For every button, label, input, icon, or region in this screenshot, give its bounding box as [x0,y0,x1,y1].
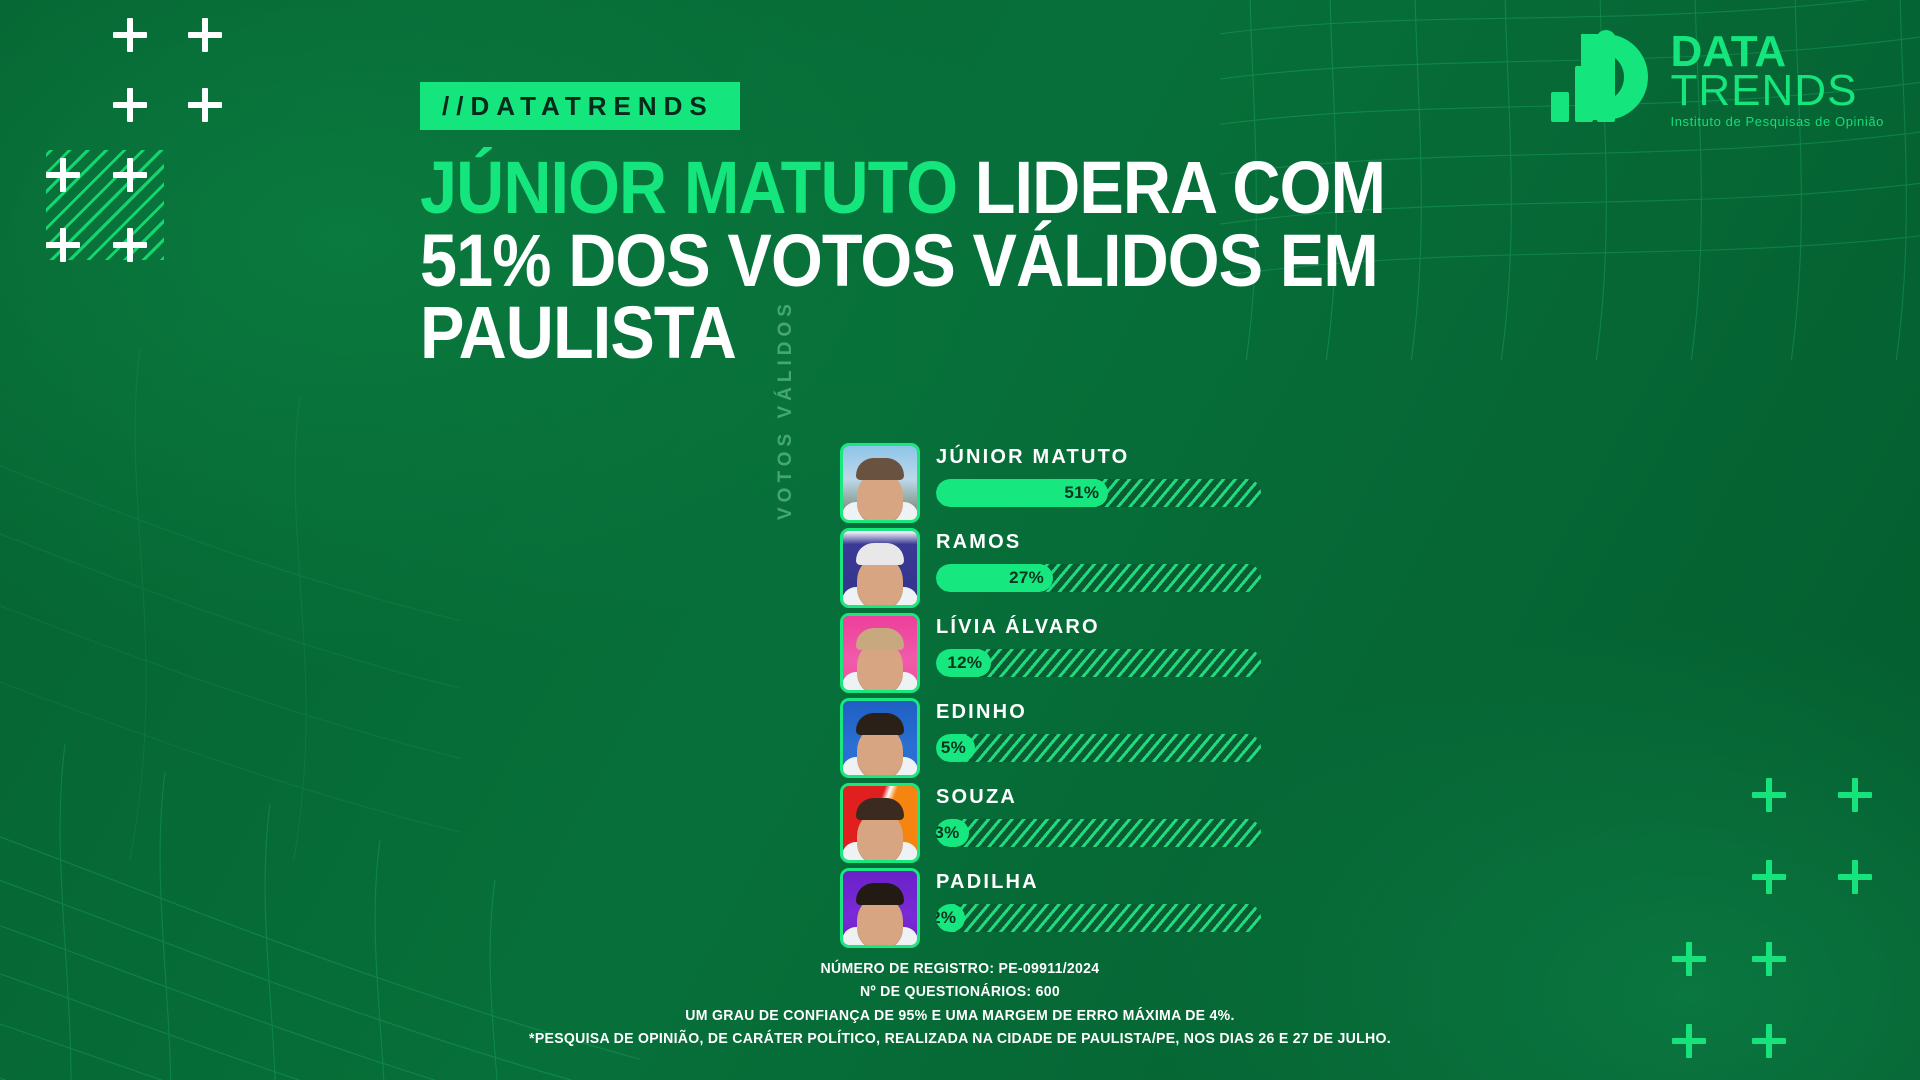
plus-cluster-top-left [0,0,260,300]
result-percentage: 12% [947,653,982,673]
result-bar-fill: 2% [936,904,965,932]
plus-icon [188,88,222,122]
candidate-photo [840,783,920,863]
footer-line-registro: NÚMERO DE REGISTRO: PE-09911/2024 [58,957,1863,980]
footer-disclaimer: NÚMERO DE REGISTRO: PE-09911/2024 Nº DE … [0,957,1920,1050]
photo-hair [856,458,904,480]
candidate-row: RAMOS27% [840,528,1260,613]
candidate-name: RAMOS [936,531,1261,554]
result-bar-fill: 51% [936,479,1108,507]
result-bar-fill: 5% [936,734,975,762]
candidate-photo [840,613,920,693]
photo-hair [856,628,904,650]
plus-icon [113,228,147,262]
plus-icon [113,88,147,122]
photo-hair [856,798,904,820]
candidate-row: LÍVIA ÁLVARO12% [840,613,1260,698]
candidate-row: PADILHA2% [840,868,1260,953]
candidate-row: SOUZA3% [840,783,1260,868]
footer-line-questionarios: Nº DE QUESTIONÁRIOS: 600 [58,980,1863,1003]
candidate-photo [840,443,920,523]
result-percentage: 2% [936,908,956,928]
result-percentage: 3% [936,823,960,843]
candidate-row: JÚNIOR MATUTO51% [840,443,1260,528]
candidate-photo [840,528,920,608]
plus-icon [113,158,147,192]
result-bar-track: 3% [936,819,1261,847]
result-bar-track: 2% [936,904,1261,932]
plus-icon [1752,778,1786,812]
plus-icon [113,18,147,52]
plus-icon [1752,860,1786,894]
result-bar-track: 5% [936,734,1261,762]
candidate-row: EDINHO5% [840,698,1260,783]
photo-hair [856,543,904,565]
axis-label-votos-validos: VOTOS VÁLIDOS [775,299,797,520]
result-percentage: 51% [1064,483,1099,503]
candidate-name: PADILHA [936,871,1261,894]
result-percentage: 5% [941,738,966,758]
candidate-name: LÍVIA ÁLVARO [936,616,1261,639]
logo-trends-text: TRENDS [1671,72,1884,111]
result-bar-fill: 12% [936,649,991,677]
candidate-name: JÚNIOR MATUTO [936,446,1261,469]
logo-tagline-text: Instituto de Pesquisas de Opinião [1671,116,1884,127]
candidate-name: EDINHO [936,701,1261,724]
logo-wordmark: DATA TRENDS Instituto de Pesquisas de Op… [1671,33,1884,127]
plus-icon [1838,860,1872,894]
photo-hair [856,713,904,735]
result-bar-track: 12% [936,649,1261,677]
headline-accent: JÚNIOR MATUTO [420,146,957,229]
result-percentage: 27% [1009,568,1044,588]
candidate-photo [840,868,920,948]
candidate-name: SOUZA [936,786,1261,809]
plus-icon [46,158,80,192]
page-title: JÚNIOR MATUTO LIDERA COM 51% DOS VOTOS V… [420,152,1482,370]
footer-line-confianca: UM GRAU DE CONFIANÇA DE 95% E UMA MARGEM… [58,1004,1863,1027]
photo-hair [856,883,904,905]
result-bar-track: 27% [936,564,1261,592]
candidate-photo [840,698,920,778]
plus-icon [188,18,222,52]
result-bar-track: 51% [936,479,1261,507]
footer-line-pesquisa: *PESQUISA DE OPINIÃO, DE CARÁTER POLÍTIC… [58,1027,1863,1050]
plus-icon [46,228,80,262]
result-bar-fill: 27% [936,564,1053,592]
header-block: //DATATRENDS JÚNIOR MATUTO LIDERA COM 51… [420,82,1600,370]
brand-badge: //DATATRENDS [420,82,740,130]
results-list: JÚNIOR MATUTO51%RAMOS27%LÍVIA ÁLVARO12%E… [840,443,1260,953]
plus-icon [1838,778,1872,812]
result-bar-fill: 3% [936,819,969,847]
